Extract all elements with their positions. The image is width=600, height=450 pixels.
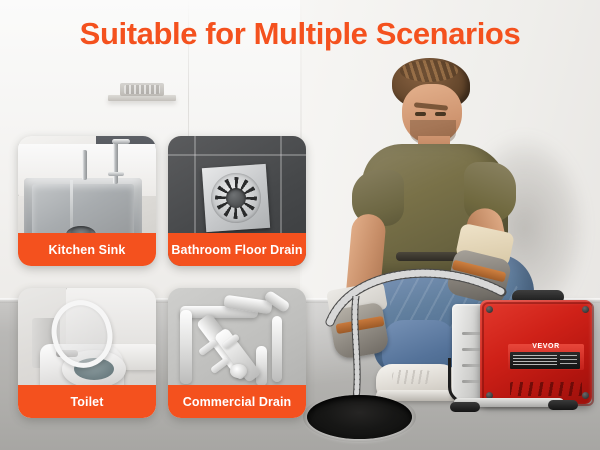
machine-bolt — [486, 306, 493, 313]
sink-faucet-main — [113, 142, 118, 184]
scenario-card-bathroom-floor-drain[interactable]: Bathroom Floor Drain — [168, 136, 306, 266]
machine-spec-text-right — [560, 355, 577, 366]
machine-foot-left — [450, 402, 480, 412]
machine-bolt — [582, 306, 589, 313]
scenario-card-kitchen-sink[interactable]: Kitchen Sink — [18, 136, 156, 266]
scenario-card-toilet[interactable]: Toilet — [18, 288, 156, 418]
scenario-card-commercial-drain[interactable]: Commercial Drain — [168, 288, 306, 418]
machine-bolt — [582, 392, 589, 399]
worker-eye-left — [415, 112, 426, 116]
pvc-pipe-cap — [230, 364, 247, 378]
scenario-label-toilet: Toilet — [18, 385, 156, 418]
scenario-label-kitchen-sink: Kitchen Sink — [18, 233, 156, 266]
worker-eye-right — [435, 112, 446, 116]
drain-cleaning-machine: VEVOR — [452, 300, 600, 422]
floor-drain-opening — [307, 395, 412, 439]
sink-faucet-secondary — [82, 150, 87, 180]
machine-spec-plate — [510, 352, 580, 369]
page-title: Suitable for Multiple Scenarios — [0, 16, 600, 52]
machine-power-cord — [448, 358, 477, 403]
sink-faucet-handle — [108, 172, 124, 176]
machine-foot-right — [548, 400, 578, 410]
pvc-pipe-stub — [256, 346, 267, 386]
promo-image: Suitable for Multiple Scenarios — [0, 0, 600, 450]
worker-shoe-laces — [392, 370, 432, 384]
pvc-pipe-vertical-right — [272, 316, 282, 382]
drain-snake-cable-into-drain — [350, 296, 364, 402]
pvc-pipe-vertical-left — [180, 310, 192, 384]
scenario-label-bathroom-floor-drain: Bathroom Floor Drain — [168, 233, 306, 266]
machine-brand-logo: VEVOR — [524, 342, 568, 351]
machine-spec-text — [513, 355, 557, 366]
sink-divider — [70, 180, 73, 232]
tile-grout-line — [168, 154, 306, 156]
floor-drain-plate — [202, 164, 270, 232]
scenario-label-commercial-drain: Commercial Drain — [168, 385, 306, 418]
shelf-items — [120, 83, 164, 96]
machine-vents — [510, 382, 582, 396]
